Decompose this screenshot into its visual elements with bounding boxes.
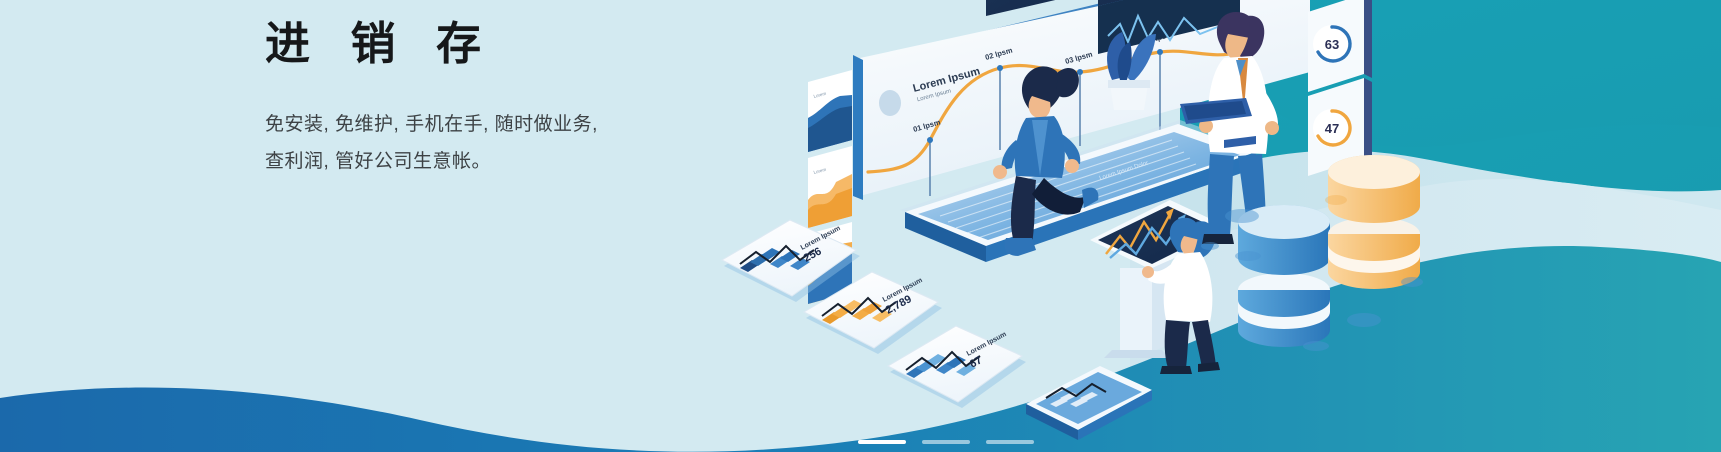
report-card-3: Lorem Ipsum 67 (888, 326, 1026, 408)
carousel-dot-3[interactable] (986, 440, 1034, 444)
hero-copy: 进 销 存 免安装, 免维护, 手机在手, 随时做业务, 查利润, 管好公司生意… (265, 18, 695, 180)
subcopy-line-1: 免安装, 免维护, 手机在手, 随时做业务, (265, 106, 695, 143)
carousel-dot-1[interactable] (858, 440, 906, 444)
svg-text:47: 47 (1325, 121, 1339, 136)
carousel-dot-2[interactable] (922, 440, 970, 444)
user-avatar-icon (879, 90, 901, 116)
isometric-illustration: Lorem Ipsum Lorem Ipsum 01 lpsm 02 lpsm … (700, 0, 1721, 452)
page-title: 进 销 存 (265, 18, 695, 70)
hero-subcopy: 免安装, 免维护, 手机在手, 随时做业务, 查利润, 管好公司生意帐。 (265, 106, 695, 180)
gauge-card-63: 63 (1308, 0, 1372, 92)
carousel-indicators[interactable] (858, 440, 1034, 444)
svg-text:63: 63 (1325, 37, 1339, 52)
hero-banner: Lorem Ipsum Lorem Ipsum 01 lpsm 02 lpsm … (0, 0, 1721, 452)
database-cylinder-orange (1328, 155, 1420, 289)
subcopy-line-2: 查利润, 管好公司生意帐。 (265, 143, 695, 180)
small-phone (1026, 366, 1152, 440)
database-cylinder-blue (1238, 205, 1330, 347)
